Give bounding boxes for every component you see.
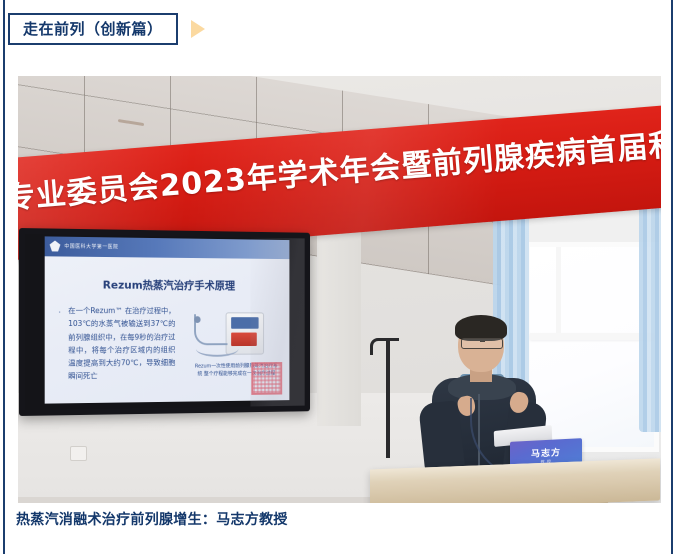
page-title: 走在前列（创新篇）: [23, 22, 163, 37]
slide-title: Rezum热蒸汽治疗手术原理: [45, 276, 290, 293]
projection-screen: 中国医科大学第一医院 Rezum热蒸汽治疗手术原理 · 在一个Rezum™ 在治…: [19, 228, 310, 416]
slide-body-text: 在一个Rezum™ 在治疗过程中，103℃的水蒸气被输送到37℃的前列腺组织中，…: [68, 304, 175, 383]
device-tip: [194, 316, 201, 323]
device-screen: [231, 317, 258, 329]
presentation-slide: 中国医科大学第一医院 Rezum热蒸汽治疗手术原理 · 在一个Rezum™ 在治…: [45, 236, 290, 403]
photo-caption: 热蒸汽消融术治疗前列腺增生：马志方教授: [16, 509, 288, 529]
wall-pillar: [317, 226, 361, 426]
triangle-right-icon: [191, 20, 205, 38]
speaker-glasses: [461, 338, 503, 349]
slide-bullet-marker: ·: [58, 308, 64, 317]
rezum-device-illustration: [194, 308, 266, 358]
right-border-rule: [671, 0, 673, 554]
slide-logo-text: 中国医科大学第一医院: [64, 243, 118, 251]
power-outlet: [70, 446, 87, 461]
section-title-box[interactable]: 走在前列（创新篇）: [8, 13, 178, 45]
photo-frame[interactable]: 专业委员会2023年学术年会暨前列腺疾病首届和平论坛 中国医科大学第一医院 Re…: [18, 76, 661, 503]
left-border-rule: [3, 0, 5, 554]
microphone-arm: [370, 338, 399, 355]
page-root: 走在前列（创新篇）: [0, 0, 679, 554]
microphone-stand: [386, 338, 390, 458]
section-header: 走在前列（创新篇）: [8, 13, 205, 45]
red-seal-stamp-icon: [251, 362, 282, 395]
conference-photo: 专业委员会2023年学术年会暨前列腺疾病首届和平论坛 中国医科大学第一医院 Re…: [18, 76, 661, 503]
